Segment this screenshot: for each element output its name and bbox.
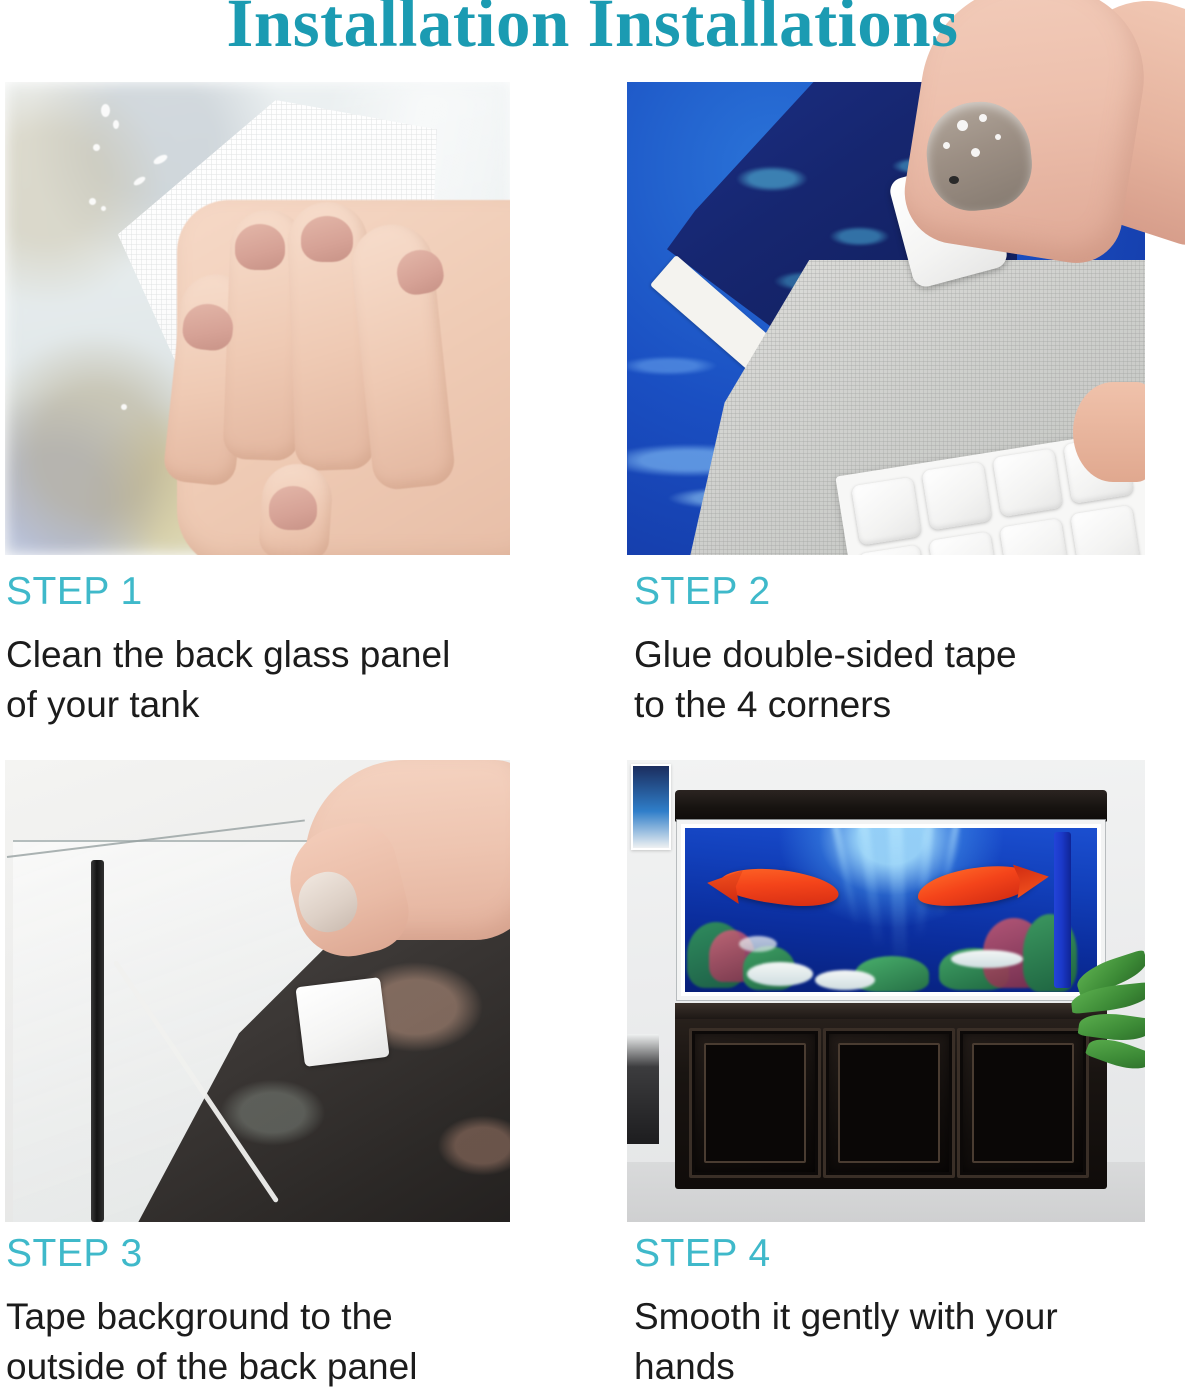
white-rock [951,950,1023,968]
step-2-description: Glue double-sided tape to the 4 corners [634,630,1179,730]
step-1-description: Clean the back glass panel of your tank [6,630,566,730]
adhesive-pad [999,518,1070,555]
step-4-label: STEP 4 [634,1232,771,1276]
water-droplet [93,144,100,151]
water-droplet [89,198,96,205]
step-3-image [5,760,510,1222]
adhesive-pad [992,448,1063,517]
adhesive-pad [1070,505,1141,555]
adhesive-pad [921,461,992,530]
tank-black-corner-trim [91,860,104,1222]
cabinet-door-panel [704,1043,806,1163]
fingernail [301,216,353,262]
cabinet-door [689,1028,821,1178]
adhesive-pad [928,531,999,555]
nail-glitter [957,120,968,131]
light-ray [830,828,860,928]
fingernail [235,224,285,270]
white-rock [747,962,813,986]
house-plant [1065,956,1145,1088]
double-sided-tape-square [295,977,389,1067]
nail-glitter [995,134,1001,140]
water-droplet [121,404,127,410]
cabinet-door-panel [972,1043,1074,1163]
step-4-description: Smooth it gently with your hands [634,1292,1179,1392]
step-1-image [5,82,510,555]
nail-glitter [949,176,959,184]
page-title: Installation Installations [227,0,959,61]
white-rock [739,936,777,952]
aquarium-hood [675,790,1107,822]
water-droplet [113,120,119,129]
adhesive-pad [858,544,929,555]
aquarium-water [685,828,1097,992]
light-ray [858,828,884,948]
step-2-image [627,82,1145,555]
nail-glitter [971,148,980,157]
nail-glitter [979,114,987,122]
fingernail [269,486,317,530]
step-4-image [627,760,1145,1222]
stand-top-rail [675,1003,1107,1019]
white-rock [815,970,875,990]
side-furniture [627,1034,659,1144]
nail-glitter [943,142,950,149]
adhesive-pad [851,477,922,546]
cabinet-door [823,1028,955,1178]
finger [1073,382,1145,482]
wall-artwork [631,764,671,850]
light-ray [888,828,907,968]
aquarium-tank [677,820,1105,1000]
water-droplet [101,104,110,117]
step-3-description: Tape background to the outside of the ba… [6,1292,566,1392]
cabinet-door-panel [838,1043,940,1163]
step-2-label: STEP 2 [634,570,771,614]
step-1-label: STEP 1 [6,570,143,614]
step-3-label: STEP 3 [6,1232,143,1276]
water-droplet [101,206,106,211]
